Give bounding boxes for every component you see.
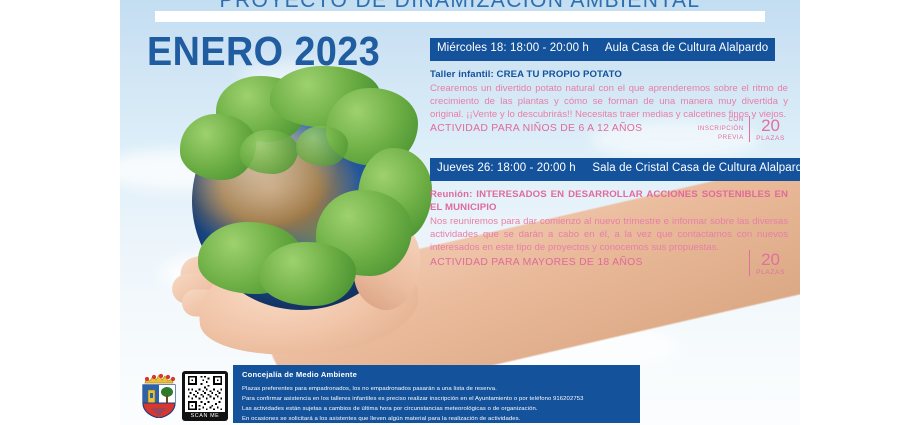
event-1-header: Miércoles 18: 18:00 - 20:00 h Aula Casa … (430, 38, 775, 61)
event-1-plazas-badge: CON INSCRIPCIÓN PREVIA 20 PLAZAS (698, 116, 785, 143)
badge-note-line-1: CON (698, 116, 744, 125)
event-2-lead: Reunión: INTERESADOS EN DESARROLLAR ACCI… (430, 188, 788, 214)
event-block-2: Jueves 26: 18:00 - 20:00 h Sala de Crist… (430, 158, 788, 270)
event-1-date: Miércoles 18: 18:00 - 20:00 h (437, 42, 589, 54)
qr-scan-me-label: SCAN ME (185, 412, 225, 421)
event-1-badge-count-group: 20 PLAZAS (756, 117, 785, 142)
event-2-badge-count-group: 20 PLAZAS (756, 251, 785, 276)
footer-note-line: Plazas preferentes para empadronados, lo… (242, 384, 631, 394)
qr-code-matrix (185, 374, 225, 412)
event-2-badge-number: 20 (756, 251, 785, 268)
badge-divider-rule (749, 250, 750, 276)
poster-screenshot: PROYECTO DE DINAMIZACIÓN AMBIENTAL ENERO… (0, 0, 920, 425)
event-2-plazas-badge: 20 PLAZAS (749, 250, 785, 276)
event-1-place: Aula Casa de Cultura Alalpardo (605, 42, 768, 54)
banner-white-strip (155, 11, 765, 22)
badge-note-line-2: INSCRIPCIÓN (698, 125, 744, 134)
event-1-badge-number: 20 (756, 117, 785, 134)
footer-panel: Concejalía de Medio Ambiente Plazas pref… (233, 365, 640, 423)
foliage-cluster (240, 130, 298, 174)
event-2-paragraph: Nos reuniremos para dar comienzo al nuev… (430, 215, 788, 255)
badge-note-line-3: PREVIA (698, 134, 744, 143)
municipal-coat-of-arms-icon (138, 370, 180, 418)
event-2-header: Jueves 26: 18:00 - 20:00 h Sala de Crist… (430, 158, 800, 181)
qr-code[interactable]: SCAN ME (182, 371, 228, 421)
footer-title: Concejalía de Medio Ambiente (242, 370, 631, 379)
foliage-cluster (260, 242, 356, 306)
badge-divider-rule (749, 116, 750, 142)
event-1-badge-word: PLAZAS (756, 135, 785, 142)
poster-canvas: PROYECTO DE DINAMIZACIÓN AMBIENTAL ENERO… (120, 0, 800, 425)
event-1-badge-note: CON INSCRIPCIÓN PREVIA (698, 116, 749, 143)
event-1-lead: Taller infantil: CREA TU PROPIO POTATO (430, 68, 788, 81)
event-2-audience: ACTIVIDAD PARA MAYORES DE 18 AÑOS (430, 256, 788, 270)
event-2-body: Reunión: INTERESADOS EN DESARROLLAR ACCI… (430, 188, 788, 271)
foliage-cluster (296, 126, 348, 166)
event-2-badge-word: PLAZAS (756, 269, 785, 276)
footer-note-line: En ocasiones se solicitará a los asisten… (242, 414, 631, 424)
footer-note-line: Para confirmar asistencia en los tallere… (242, 394, 631, 404)
event-block-1: Miércoles 18: 18:00 - 20:00 h Aula Casa … (430, 38, 788, 137)
footer-note-line: Las actividades están sujetas a cambios … (242, 404, 631, 414)
event-2-place: Sala de Cristal Casa de Cultura Alalpard… (592, 162, 800, 174)
event-2-date: Jueves 26: 18:00 - 20:00 h (437, 162, 576, 174)
